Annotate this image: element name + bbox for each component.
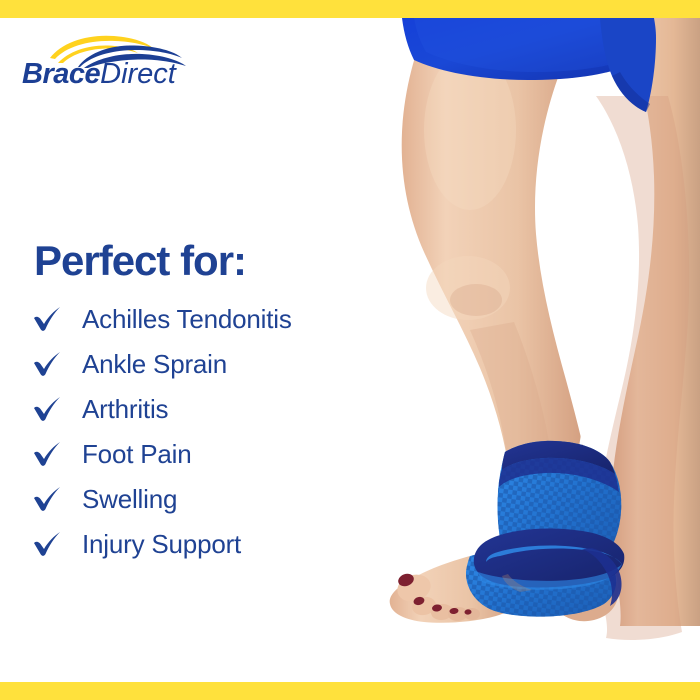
top-accent-bar	[0, 0, 700, 18]
benefit-list: Achilles Tendonitis Ankle Sprain Arthrit…	[30, 296, 292, 566]
list-item-label: Ankle Sprain	[82, 351, 227, 377]
check-icon	[30, 441, 82, 467]
list-item: Injury Support	[30, 521, 292, 566]
marketing-image: BraceDirect Perfect for: Achilles Tendon…	[0, 0, 700, 700]
bottom-accent-bar	[0, 682, 700, 700]
check-icon	[30, 306, 82, 332]
list-item-label: Injury Support	[82, 531, 241, 557]
check-icon	[30, 396, 82, 422]
list-item-label: Arthritis	[82, 396, 168, 422]
logo-wordmark: BraceDirect	[22, 60, 176, 89]
list-item-label: Swelling	[82, 486, 177, 512]
logo-word-brace: Brace	[22, 58, 100, 90]
list-item: Achilles Tendonitis	[30, 296, 292, 341]
list-item: Foot Pain	[30, 431, 292, 476]
check-icon	[30, 531, 82, 557]
check-icon	[30, 486, 82, 512]
logo-word-direct: Direct	[100, 58, 176, 90]
list-item-label: Foot Pain	[82, 441, 192, 467]
list-item-label: Achilles Tendonitis	[82, 306, 292, 332]
list-item: Arthritis	[30, 386, 292, 431]
check-icon	[30, 351, 82, 377]
list-item: Swelling	[30, 476, 292, 521]
list-item: Ankle Sprain	[30, 341, 292, 386]
page-title: Perfect for:	[34, 240, 246, 282]
brand-logo[interactable]: BraceDirect	[22, 34, 212, 94]
